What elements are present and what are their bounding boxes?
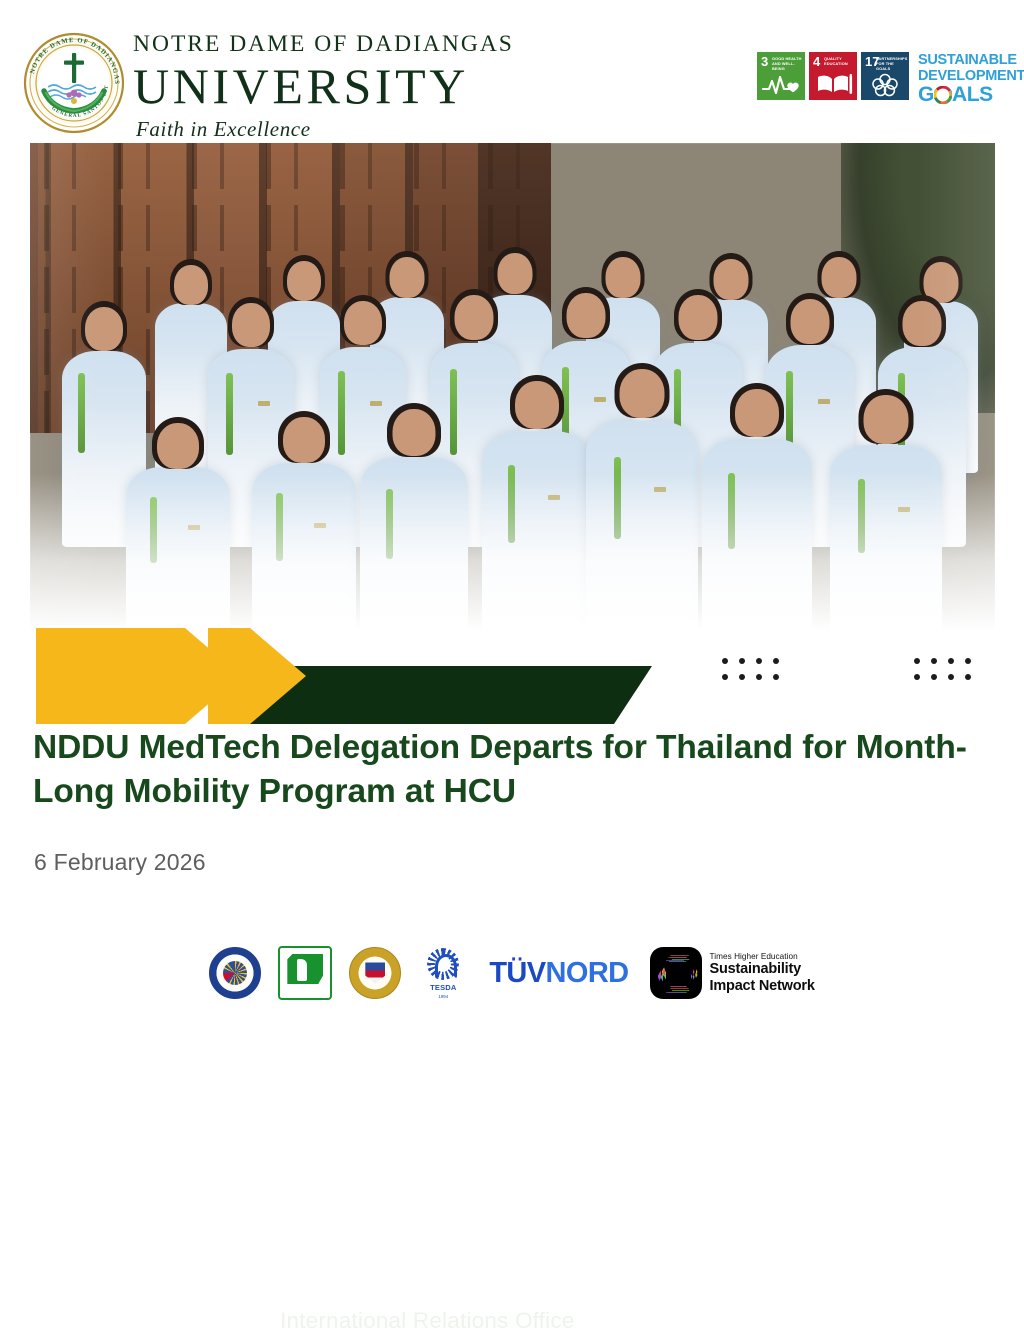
paascu-logo-icon bbox=[278, 946, 332, 1000]
dot-grid-right bbox=[914, 658, 982, 690]
dot bbox=[914, 658, 920, 664]
the-sin-line-2: Sustainability bbox=[710, 961, 815, 977]
group-photo bbox=[30, 143, 995, 643]
the-sustainability-impact-network-logo: Times Higher Education Sustainability Im… bbox=[650, 947, 815, 999]
dot bbox=[914, 674, 920, 680]
dot bbox=[756, 658, 762, 664]
the-sin-line-3: Impact Network bbox=[710, 978, 815, 994]
the-sin-mark-icon bbox=[650, 947, 702, 999]
brand-line-1: NOTRE DAME OF DADIANGAS bbox=[133, 33, 553, 57]
dot bbox=[965, 658, 971, 664]
dot bbox=[948, 674, 954, 680]
office-banner: International Relations Office bbox=[0, 628, 1024, 724]
dot bbox=[965, 674, 971, 680]
brand-line-2: UNIVERSITY bbox=[133, 60, 553, 113]
dot bbox=[931, 674, 937, 680]
sdg-wordmark-line-1: SUSTAINABLE bbox=[918, 53, 1024, 68]
sdg-goals-als: ALS bbox=[952, 83, 993, 106]
dot bbox=[931, 658, 937, 664]
sdg-badge-17: 17 PARTNERSHIPS FOR THE GOALS bbox=[861, 52, 909, 100]
sdg-badge-4-label: QUALITY EDUCATION bbox=[824, 56, 855, 66]
dot bbox=[722, 658, 728, 664]
news-card: NOTRE DAME OF DADIANGAS UNIVERSITY GENER… bbox=[0, 0, 1024, 1024]
dot bbox=[739, 674, 745, 680]
sdg-badge-3: 3 GOOD HEALTH AND WELL-BEING bbox=[757, 52, 805, 100]
publish-date: 6 February 2026 bbox=[34, 849, 206, 876]
header: NOTRE DAME OF DADIANGAS UNIVERSITY GENER… bbox=[0, 0, 1024, 143]
tesda-wordmark: TESDA bbox=[418, 983, 468, 992]
the-sin-line-1: Times Higher Education bbox=[710, 952, 815, 961]
sdg-badge-4: 4 QUALITY EDUCATION bbox=[809, 52, 857, 100]
brand-tagline: Faith in Excellence bbox=[136, 117, 553, 142]
interlocking-circles-icon bbox=[861, 71, 909, 97]
sdg-badge-3-label: GOOD HEALTH AND WELL-BEING bbox=[772, 56, 803, 71]
dot bbox=[739, 658, 745, 664]
brand-lockup: NOTRE DAME OF DADIANGAS UNIVERSITY Faith… bbox=[133, 33, 553, 142]
banner-label: International Relations Office bbox=[280, 1308, 575, 1334]
sdg-wordmark-line-3: GALS bbox=[918, 84, 1024, 105]
dot bbox=[756, 674, 762, 680]
university-seal-icon: NOTRE DAME OF DADIANGAS UNIVERSITY GENER… bbox=[22, 31, 126, 135]
sdg-wordmark-line-2: DEVELOPMENT bbox=[918, 69, 1024, 84]
accreditation-footer: TESDA 1994 TÜVNORD Times Higher Educatio… bbox=[0, 934, 1024, 1012]
page-title: NDDU MedTech Delegation Departs for Thai… bbox=[33, 726, 998, 814]
tesda-logo-icon: TESDA 1994 bbox=[418, 947, 468, 999]
open-book-icon bbox=[809, 71, 857, 97]
tuv-nord-part-1: TÜV bbox=[489, 957, 545, 989]
sdg-badge-4-number: 4 bbox=[813, 55, 820, 68]
sdg-color-wheel-icon bbox=[934, 86, 952, 104]
tesda-year: 1994 bbox=[418, 994, 468, 999]
ched-seal-icon bbox=[209, 947, 261, 999]
pacucoa-seal-icon bbox=[349, 947, 401, 999]
dot-grid-left bbox=[722, 658, 790, 690]
sdg-goals-g: G bbox=[918, 83, 934, 106]
photo-side-fade bbox=[30, 143, 995, 643]
tuv-nord-part-2: NORD bbox=[546, 957, 629, 989]
dot bbox=[948, 658, 954, 664]
sdg-wordmark: SUSTAINABLE DEVELOPMENT GALS bbox=[918, 52, 1024, 105]
sdg-badge-17-label: PARTNERSHIPS FOR THE GOALS bbox=[876, 56, 907, 71]
sdg-badge-group: 3 GOOD HEALTH AND WELL-BEING 4 QUALITY E… bbox=[757, 52, 1024, 104]
sdg-badge-3-number: 3 bbox=[761, 55, 768, 68]
dot bbox=[773, 658, 779, 664]
heartbeat-icon bbox=[757, 71, 805, 97]
dot bbox=[722, 674, 728, 680]
dot bbox=[773, 674, 779, 680]
tuv-nord-logo: TÜVNORD bbox=[489, 959, 628, 988]
